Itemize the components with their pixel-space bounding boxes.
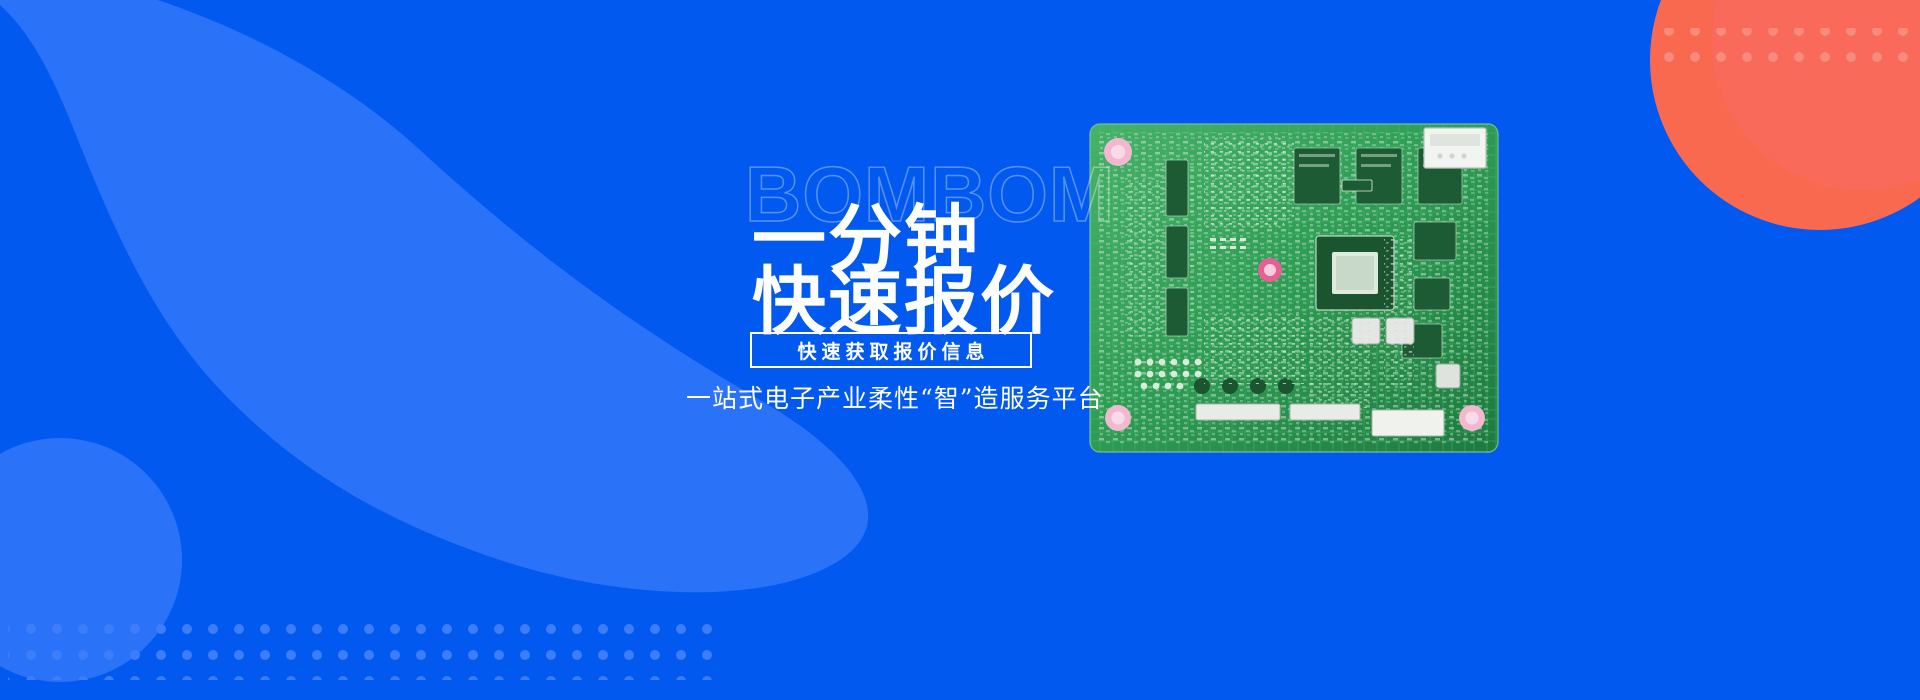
decor-dots-top-right-on-accent — [1658, 28, 1920, 64]
promo-banner: BOMBOM 一分钟 快速报价 快速获取报价信息 一站式电子产业柔性“智”造服务… — [0, 0, 1920, 700]
background-decoration — [0, 0, 1920, 700]
pcb-main-processor — [1316, 236, 1394, 310]
pcb-silk-mark — [1342, 180, 1372, 191]
pcb-left-chips — [1166, 160, 1188, 336]
pcb-card-slot — [1424, 128, 1486, 168]
decor-dots-bottom-left — [8, 618, 714, 680]
pcb-circuit-board-image — [1084, 118, 1504, 458]
